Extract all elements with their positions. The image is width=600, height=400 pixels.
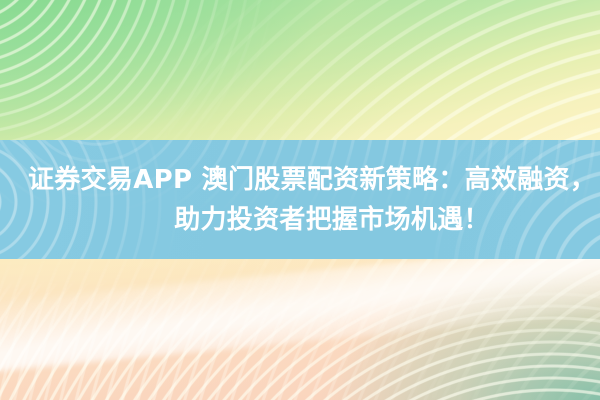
headline-line-1: 证券交易APP 澳门股票配资新策略：高效融资， <box>28 163 596 197</box>
headline: 证券交易APP 澳门股票配资新策略：高效融资， 助力投资者把握市场机遇！ <box>0 140 600 259</box>
headline-band: 证券交易APP 澳门股票配资新策略：高效融资， 助力投资者把握市场机遇！ <box>0 140 600 259</box>
headline-line-2: 助力投资者把握市场机遇！ <box>174 203 490 237</box>
promo-banner: 证券交易APP 澳门股票配资新策略：高效融资， 助力投资者把握市场机遇！ <box>0 0 600 400</box>
